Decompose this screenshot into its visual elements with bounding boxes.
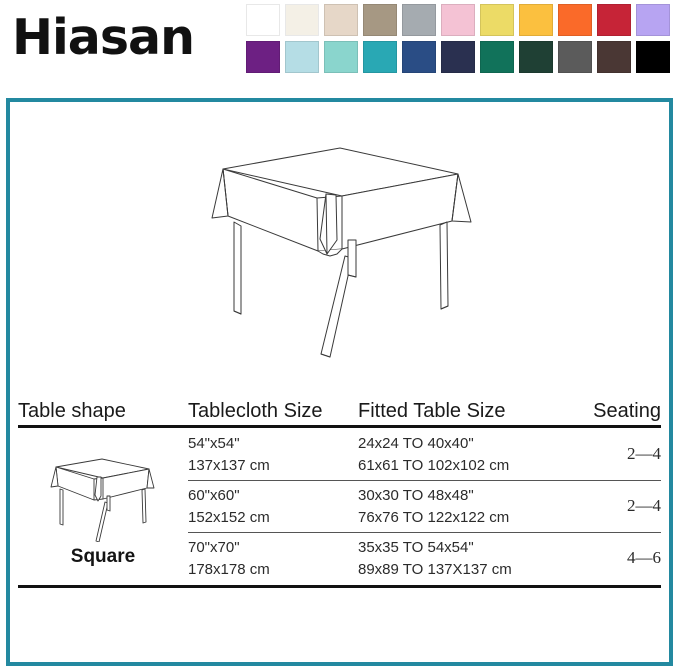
swatch-row-2 <box>246 41 676 73</box>
swatch-brown[interactable] <box>597 41 631 73</box>
table-bottom-divider <box>18 585 661 588</box>
table-header-row: Table shape Tablecloth Size Fitted Table… <box>18 387 661 425</box>
fitted-size-inches: 30x30 TO 48x48" <box>358 487 593 504</box>
swatch-taupe[interactable] <box>363 4 397 36</box>
swatch-black[interactable] <box>636 41 670 73</box>
swatch-ivory[interactable] <box>285 4 319 36</box>
spec-rows: 54"x54" 137x137 cm 24x24 TO 40x40" 61x61… <box>188 428 661 584</box>
swatch-red[interactable] <box>597 4 631 36</box>
swatch-aqua[interactable] <box>324 41 358 73</box>
swatch-pink[interactable] <box>441 4 475 36</box>
tablecloth-size-inches: 60"x60" <box>188 487 358 504</box>
cell-tablecloth-size: 60"x60" 152x152 cm <box>188 487 358 526</box>
tablecloth-size-inches: 54"x54" <box>188 435 358 452</box>
tablecloth-size-inches: 70"x70" <box>188 539 358 556</box>
cell-seating: 4—6 <box>593 548 661 568</box>
swatch-teal[interactable] <box>363 41 397 73</box>
product-info-card: Table shape Tablecloth Size Fitted Table… <box>6 98 673 666</box>
column-header-table-shape: Table shape <box>18 400 188 423</box>
swatch-emerald-green[interactable] <box>480 41 514 73</box>
cell-fitted-table-size: 30x30 TO 48x48" 76x76 TO 122x122 cm <box>358 487 593 526</box>
square-table-thumbnail-icon <box>44 454 162 542</box>
swatch-orange[interactable] <box>558 4 592 36</box>
swatch-navy-blue[interactable] <box>402 41 436 73</box>
tablecloth-size-cm: 152x152 cm <box>188 509 358 526</box>
tablecloth-size-cm: 178x178 cm <box>188 561 358 578</box>
cell-tablecloth-size: 54"x54" 137x137 cm <box>188 435 358 474</box>
cell-seating: 2—4 <box>593 444 661 464</box>
fitted-size-cm: 61x61 TO 102x102 cm <box>358 457 593 474</box>
fitted-size-cm: 76x76 TO 122x122 cm <box>358 509 593 526</box>
fitted-size-cm: 89x89 TO 137X137 cm <box>358 561 593 578</box>
table-body: Square 54"x54" 137x137 cm 24x24 TO 40x40… <box>18 428 661 584</box>
column-header-seating: Seating <box>593 400 661 423</box>
cell-fitted-table-size: 24x24 TO 40x40" 61x61 TO 102x102 cm <box>358 435 593 474</box>
swatch-golden-yellow[interactable] <box>519 4 553 36</box>
tablecloth-line-drawing-svg <box>190 136 490 361</box>
column-header-tablecloth-size: Tablecloth Size <box>188 400 358 423</box>
table-row: 60"x60" 152x152 cm 30x30 TO 48x48" 76x76… <box>188 480 661 532</box>
table-shape-label: Square <box>71 546 135 568</box>
cell-tablecloth-size: 70"x70" 178x178 cm <box>188 539 358 578</box>
table-shape-cell: Square <box>18 428 188 584</box>
swatch-hunter-green[interactable] <box>519 41 553 73</box>
swatch-silver-gray[interactable] <box>402 4 436 36</box>
table-row: 70"x70" 178x178 cm 35x35 TO 54x54" 89x89… <box>188 532 661 584</box>
swatch-row-1 <box>246 4 676 36</box>
square-tablecloth-illustration <box>10 108 669 388</box>
swatch-yellow[interactable] <box>480 4 514 36</box>
swatch-lavender[interactable] <box>636 4 670 36</box>
brand-logo: Hiasan <box>12 8 194 68</box>
fitted-size-inches: 24x24 TO 40x40" <box>358 435 593 452</box>
swatch-purple[interactable] <box>246 41 280 73</box>
swatch-dark-gray[interactable] <box>558 41 592 73</box>
swatch-white[interactable] <box>246 4 280 36</box>
brand-header: Hiasan <box>0 0 679 90</box>
cell-seating: 2—4 <box>593 496 661 516</box>
size-spec-table: Table shape Tablecloth Size Fitted Table… <box>18 387 661 588</box>
color-swatch-grid <box>246 4 676 78</box>
card-inner: Table shape Tablecloth Size Fitted Table… <box>10 102 669 662</box>
fitted-size-inches: 35x35 TO 54x54" <box>358 539 593 556</box>
column-header-fitted-table-size: Fitted Table Size <box>358 400 593 423</box>
table-row: 54"x54" 137x137 cm 24x24 TO 40x40" 61x61… <box>188 428 661 480</box>
swatch-dark-navy[interactable] <box>441 41 475 73</box>
cell-fitted-table-size: 35x35 TO 54x54" 89x89 TO 137X137 cm <box>358 539 593 578</box>
swatch-light-blue[interactable] <box>285 41 319 73</box>
swatch-beige[interactable] <box>324 4 358 36</box>
tablecloth-size-cm: 137x137 cm <box>188 457 358 474</box>
